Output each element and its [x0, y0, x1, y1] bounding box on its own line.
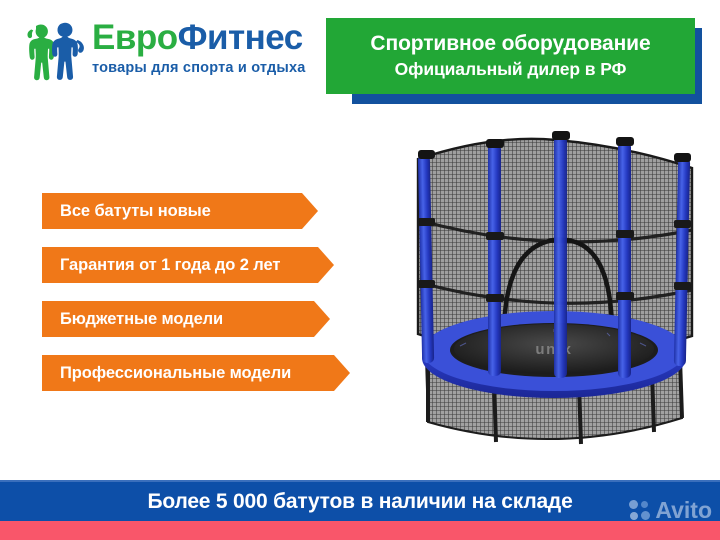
brand-logo[interactable]: ЕвроФитнес товары для спорта и отдыха [22, 18, 322, 90]
avito-dots-icon [629, 500, 653, 522]
feature-item-1-label: Все батуты новые [42, 202, 211, 221]
feature-item-4: Профессиональные модели [42, 355, 350, 391]
footer-banner-text: Более 5 000 батутов в наличии на складе [147, 490, 572, 514]
athletes-icon-group [22, 20, 88, 82]
header-banner-line1: Спортивное оборудование [370, 31, 650, 57]
feature-list: Все батуты новые Гарантия от 1 года до 2… [42, 193, 350, 391]
brand-tagline: товары для спорта и отдыха [92, 59, 324, 77]
avito-watermark: Avito [629, 499, 712, 522]
header-banner: Спортивное оборудование Официальный диле… [326, 18, 695, 94]
brand-name-part1: Евро [92, 18, 178, 57]
brand-name-part2: Фитнес [178, 18, 303, 57]
avito-watermark-label: Avito [655, 499, 712, 522]
product-photo-trampoline: unix [404, 122, 704, 472]
feature-item-2: Гарантия от 1 года до 2 лет [42, 247, 334, 283]
header-banner-line2: Официальный дилер в РФ [395, 57, 627, 81]
brand-text: ЕвроФитнес товары для спорта и отдыха [92, 18, 324, 77]
feature-item-2-label: Гарантия от 1 года до 2 лет [42, 256, 280, 275]
feature-item-4-label: Профессиональные модели [42, 364, 291, 383]
feature-item-1: Все батуты новые [42, 193, 318, 229]
promo-poster: ЕвроФитнес товары для спорта и отдыха Сп… [0, 0, 720, 540]
feature-item-3: Бюджетные модели [42, 301, 330, 337]
male-athlete-icon [52, 23, 84, 80]
feature-item-3-label: Бюджетные модели [42, 310, 223, 329]
female-athlete-icon [27, 24, 54, 80]
brand-name: ЕвроФитнес [92, 18, 324, 58]
footer-banner: Более 5 000 батутов в наличии на складе [0, 480, 720, 521]
footer-accent-strip [0, 521, 720, 540]
